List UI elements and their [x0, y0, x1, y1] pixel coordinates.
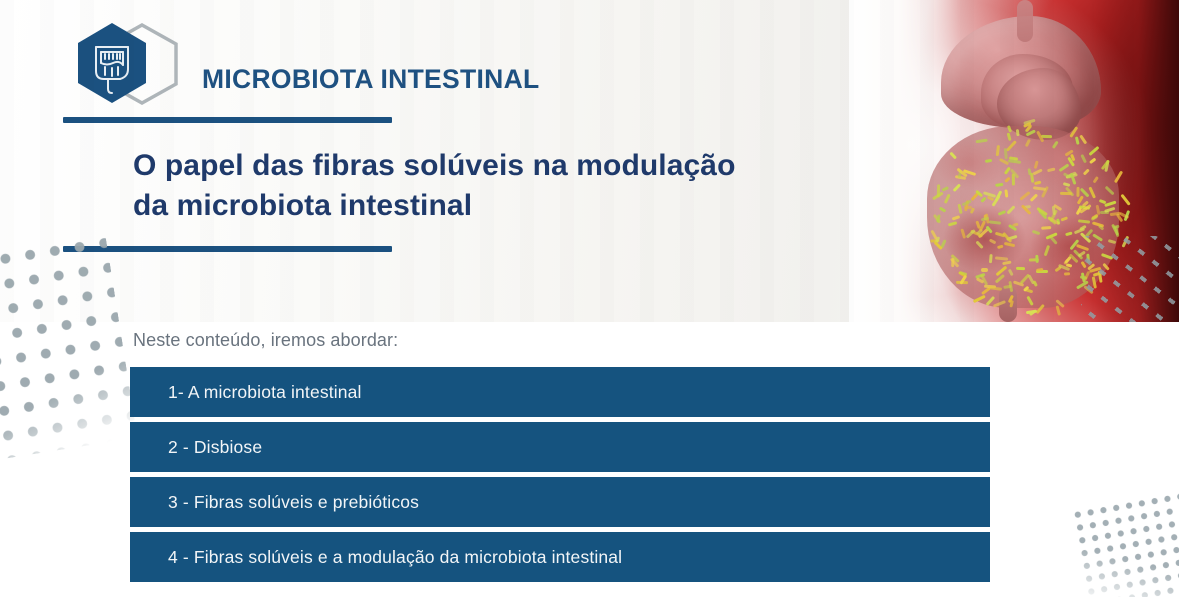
diagonal-dash-pattern-icon — [1081, 236, 1179, 322]
brand-logo[interactable]: MICROBIOTA INTESTINAL — [63, 16, 175, 106]
esophagus — [1017, 0, 1033, 42]
toc-intro-label: Neste conteúdo, iremos abordar: — [133, 330, 398, 351]
toc-item-4[interactable]: 4 - Fibras solúveis e a modulação da mic… — [130, 532, 990, 582]
toc-item-3[interactable]: 3 - Fibras solúveis e prebióticos — [130, 477, 990, 527]
dot-grid-pattern-bottom-right-icon — [1070, 490, 1179, 597]
page-title: O papel das fibras solúveis na modulação… — [133, 146, 773, 226]
intestine-hexagon-icon — [75, 21, 149, 105]
toc-item-label: 3 - Fibras solúveis e prebióticos — [130, 492, 419, 513]
divider-top — [63, 117, 392, 123]
toc-list: 1- A microbiota intestinal2 - Disbiose3 … — [130, 367, 990, 587]
page-title-line-1: O papel das fibras solúveis na modulação — [133, 146, 773, 186]
toc-item-label: 1- A microbiota intestinal — [130, 382, 362, 403]
page-title-line-2: da microbiota intestinal — [133, 186, 773, 226]
brand-marks — [63, 16, 175, 106]
divider-bottom — [63, 246, 392, 252]
hero-band: MICROBIOTA INTESTINAL O papel das fibras… — [0, 0, 1179, 322]
brand-title: MICROBIOTA INTESTINAL — [202, 66, 540, 93]
toc-item-label: 2 - Disbiose — [130, 437, 262, 458]
toc-item-2[interactable]: 2 - Disbiose — [130, 422, 990, 472]
toc-item-1[interactable]: 1- A microbiota intestinal — [130, 367, 990, 417]
toc-item-label: 4 - Fibras solúveis e a modulação da mic… — [130, 547, 622, 568]
slide-canvas: MICROBIOTA INTESTINAL O papel das fibras… — [0, 0, 1179, 597]
